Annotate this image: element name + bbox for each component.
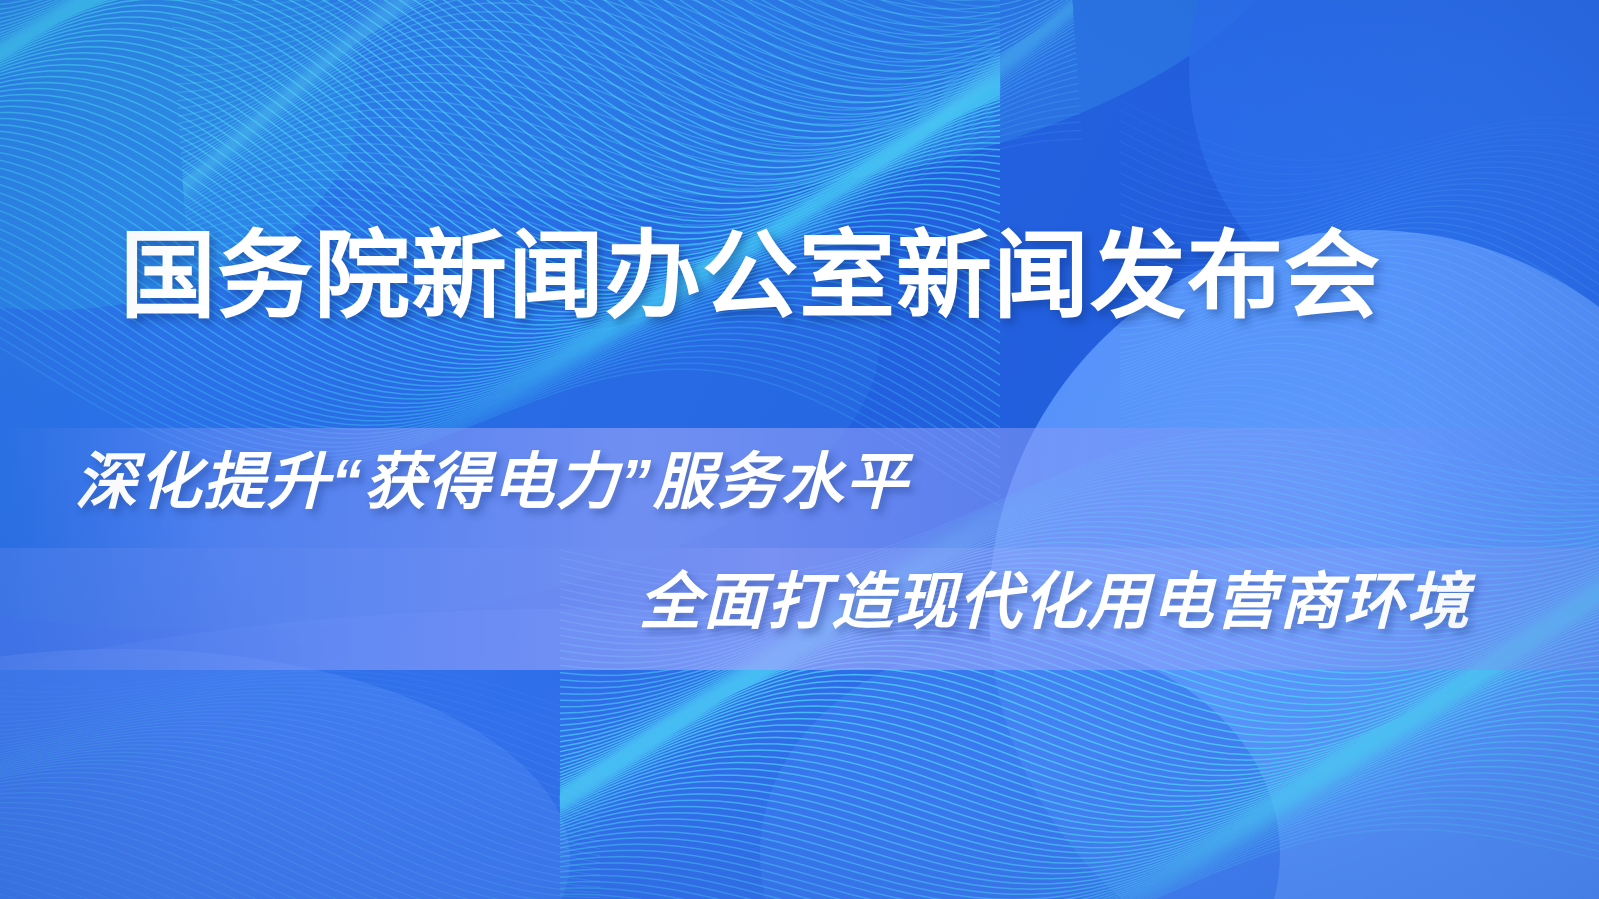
page-title: 国务院新闻办公室新闻发布会 <box>120 226 1381 328</box>
subtitle-line-one: 深化提升“获得电力”服务水平 <box>75 452 909 514</box>
subtitle-line-two: 全面打造现代化用电营商环境 <box>639 572 1471 634</box>
poster-canvas: 国务院新闻办公室新闻发布会 深化提升“获得电力”服务水平 全面打造现代化用电营商… <box>0 0 1599 899</box>
